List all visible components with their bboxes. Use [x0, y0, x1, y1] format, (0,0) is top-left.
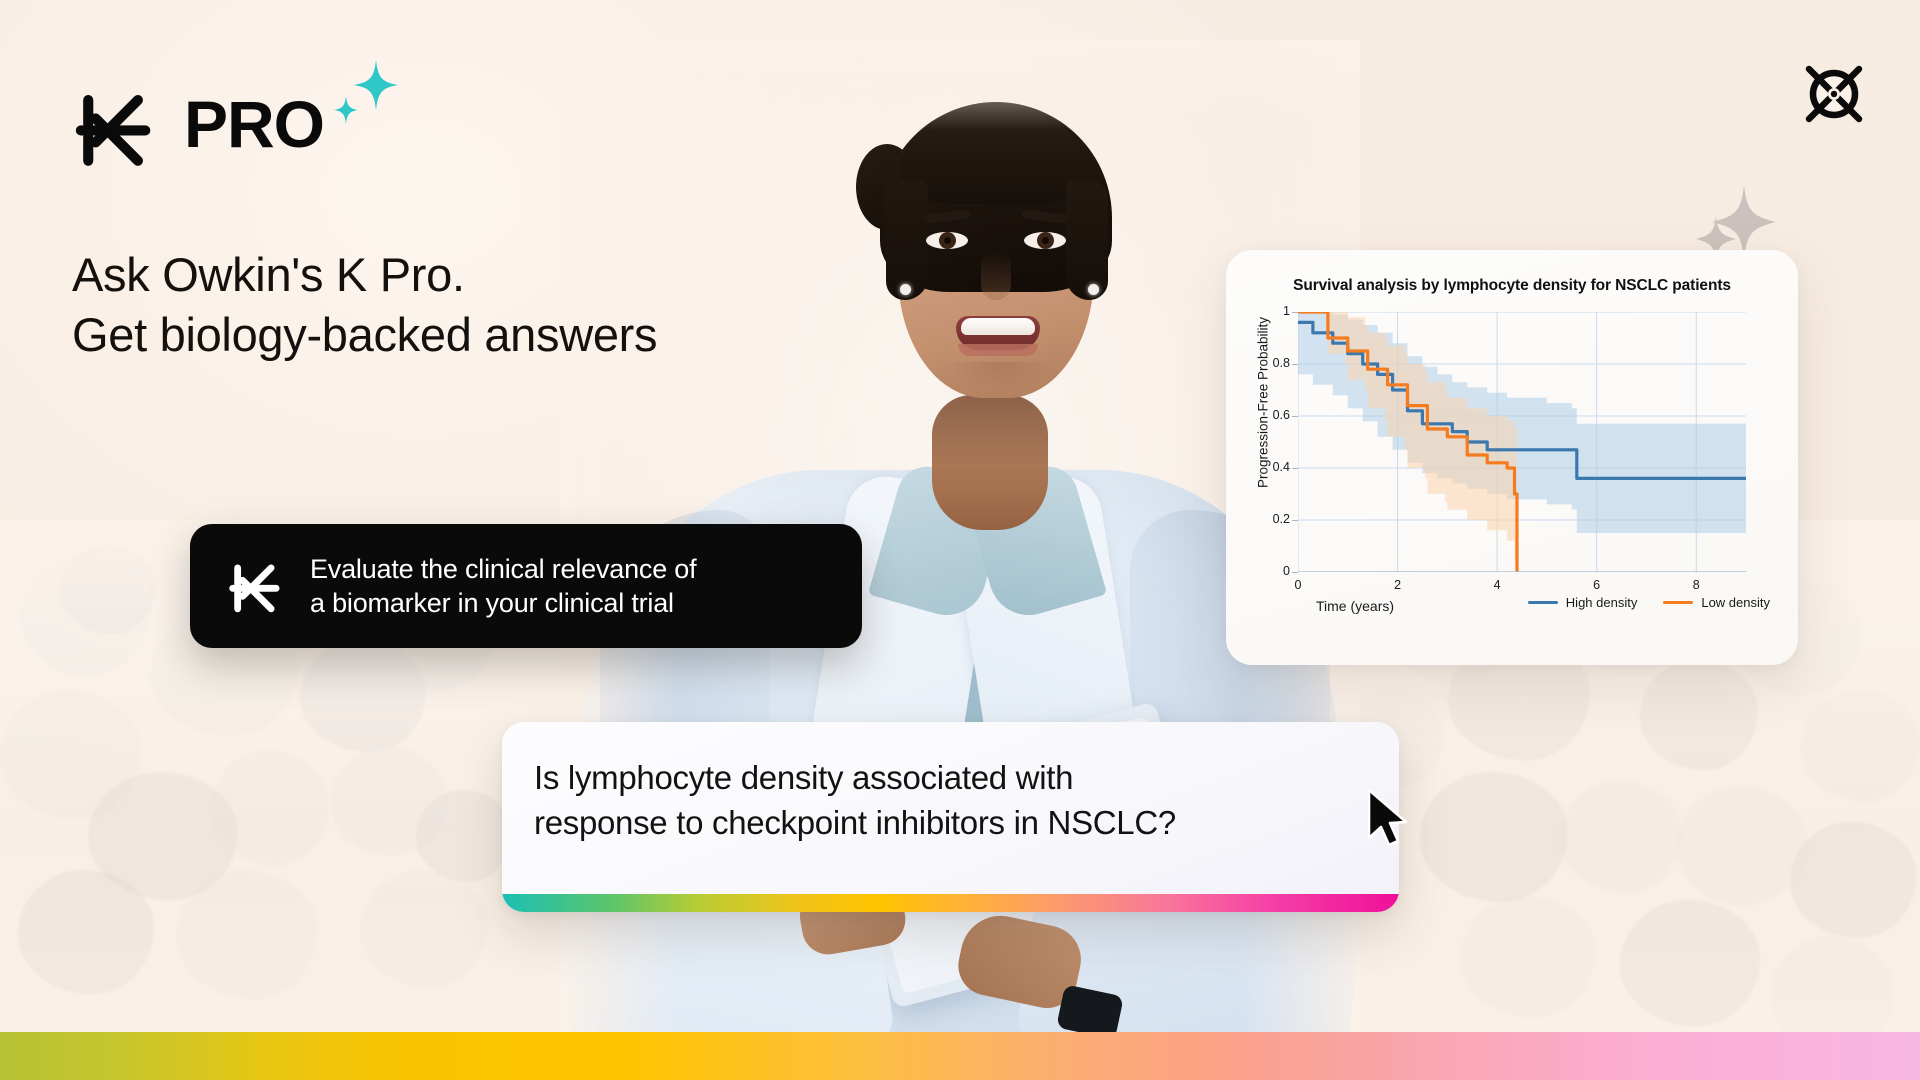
chart-y-tick-mark [1292, 416, 1298, 417]
chart-y-tick-label: 0.8 [1256, 356, 1290, 370]
legend-label-low-density: Low density [1701, 595, 1770, 610]
sparkle-icon [330, 58, 400, 128]
chart-y-tick-label: 0.2 [1256, 512, 1290, 526]
mouse-pointer-icon [1366, 788, 1412, 850]
chart-y-tick-label: 1 [1256, 304, 1290, 318]
question-card[interactable]: Is lymphocyte density associated with re… [502, 722, 1399, 912]
question-line-1: Is lymphocyte density associated with [534, 759, 1073, 796]
question-card-text: Is lymphocyte density associated with re… [534, 756, 1361, 846]
question-card-gradient-bar [502, 894, 1399, 912]
chart-y-tick-mark [1292, 572, 1298, 573]
prompt-line-1: Evaluate the clinical relevance of [310, 554, 696, 584]
chart-card: Survival analysis by lymphocyte density … [1226, 250, 1798, 665]
k-pro-logo[interactable]: PRO [68, 78, 324, 170]
chart-x-axis-label: Time (years) [1316, 598, 1394, 614]
owkin-k-icon [68, 78, 160, 170]
chart-x-tick-label: 2 [1383, 578, 1413, 592]
chart-y-tick-mark [1292, 312, 1298, 313]
chart-y-tick-mark [1292, 364, 1298, 365]
legend-swatch-low-density [1663, 601, 1693, 605]
logo-pro-word: PRO [184, 91, 324, 157]
legend-swatch-high-density [1528, 601, 1558, 605]
chart-y-tick-mark [1292, 468, 1298, 469]
survival-plot [1298, 312, 1746, 572]
headline-line-1: Ask Owkin's K Pro. [72, 245, 657, 305]
prompt-line-2: a biomarker in your clinical trial [310, 588, 674, 618]
owkin-circle-x-icon[interactable] [1800, 60, 1868, 128]
chart-y-tick-mark [1292, 520, 1298, 521]
chart-y-axis-label: Progression-Free Probability [1256, 288, 1271, 518]
chart-x-tick-label: 0 [1283, 578, 1313, 592]
chart-y-tick-label: 0 [1256, 564, 1290, 578]
prompt-card-text: Evaluate the clinical relevance of a bio… [310, 552, 696, 620]
page-title: Ask Owkin's K Pro. Get biology-backed an… [72, 245, 657, 365]
chart-x-tick-label: 4 [1482, 578, 1512, 592]
question-line-2: response to checkpoint inhibitors in NSC… [534, 804, 1176, 841]
owkin-k-icon [224, 553, 286, 620]
bottom-gradient-bar [0, 1032, 1920, 1080]
suggested-prompt-card[interactable]: Evaluate the clinical relevance of a bio… [190, 524, 862, 648]
chart-x-tick-label: 6 [1582, 578, 1612, 592]
chart-y-tick-label: 0.6 [1256, 408, 1290, 422]
headline-line-2: Get biology-backed answers [72, 305, 657, 365]
legend-item-low-density: Low density [1663, 595, 1770, 610]
chart-legend: High density Low density [1528, 595, 1770, 610]
chart-title: Survival analysis by lymphocyte density … [1226, 277, 1798, 295]
legend-label-high-density: High density [1566, 595, 1638, 610]
chart-x-tick-label: 8 [1681, 578, 1711, 592]
legend-item-high-density: High density [1528, 595, 1638, 610]
chart-y-tick-label: 0.4 [1256, 460, 1290, 474]
